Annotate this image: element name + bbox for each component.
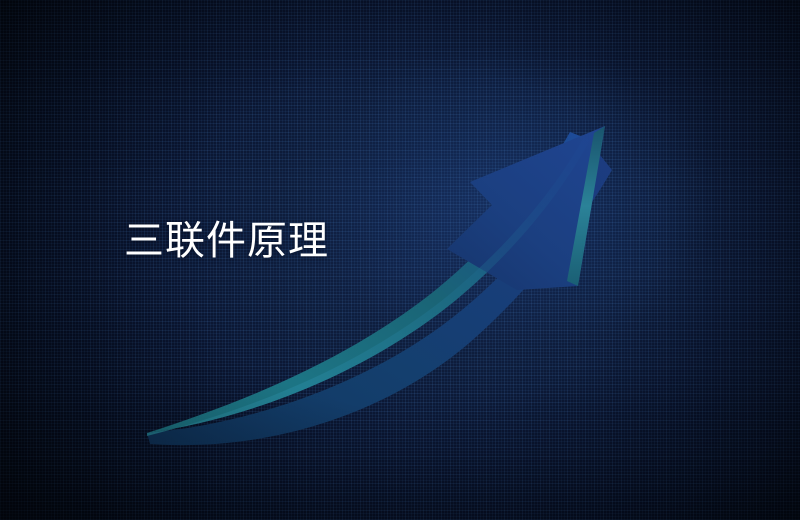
promo-banner: 三联件原理 [0, 0, 800, 520]
banner-title: 三联件原理 [124, 218, 329, 264]
background-vignette [0, 0, 800, 520]
